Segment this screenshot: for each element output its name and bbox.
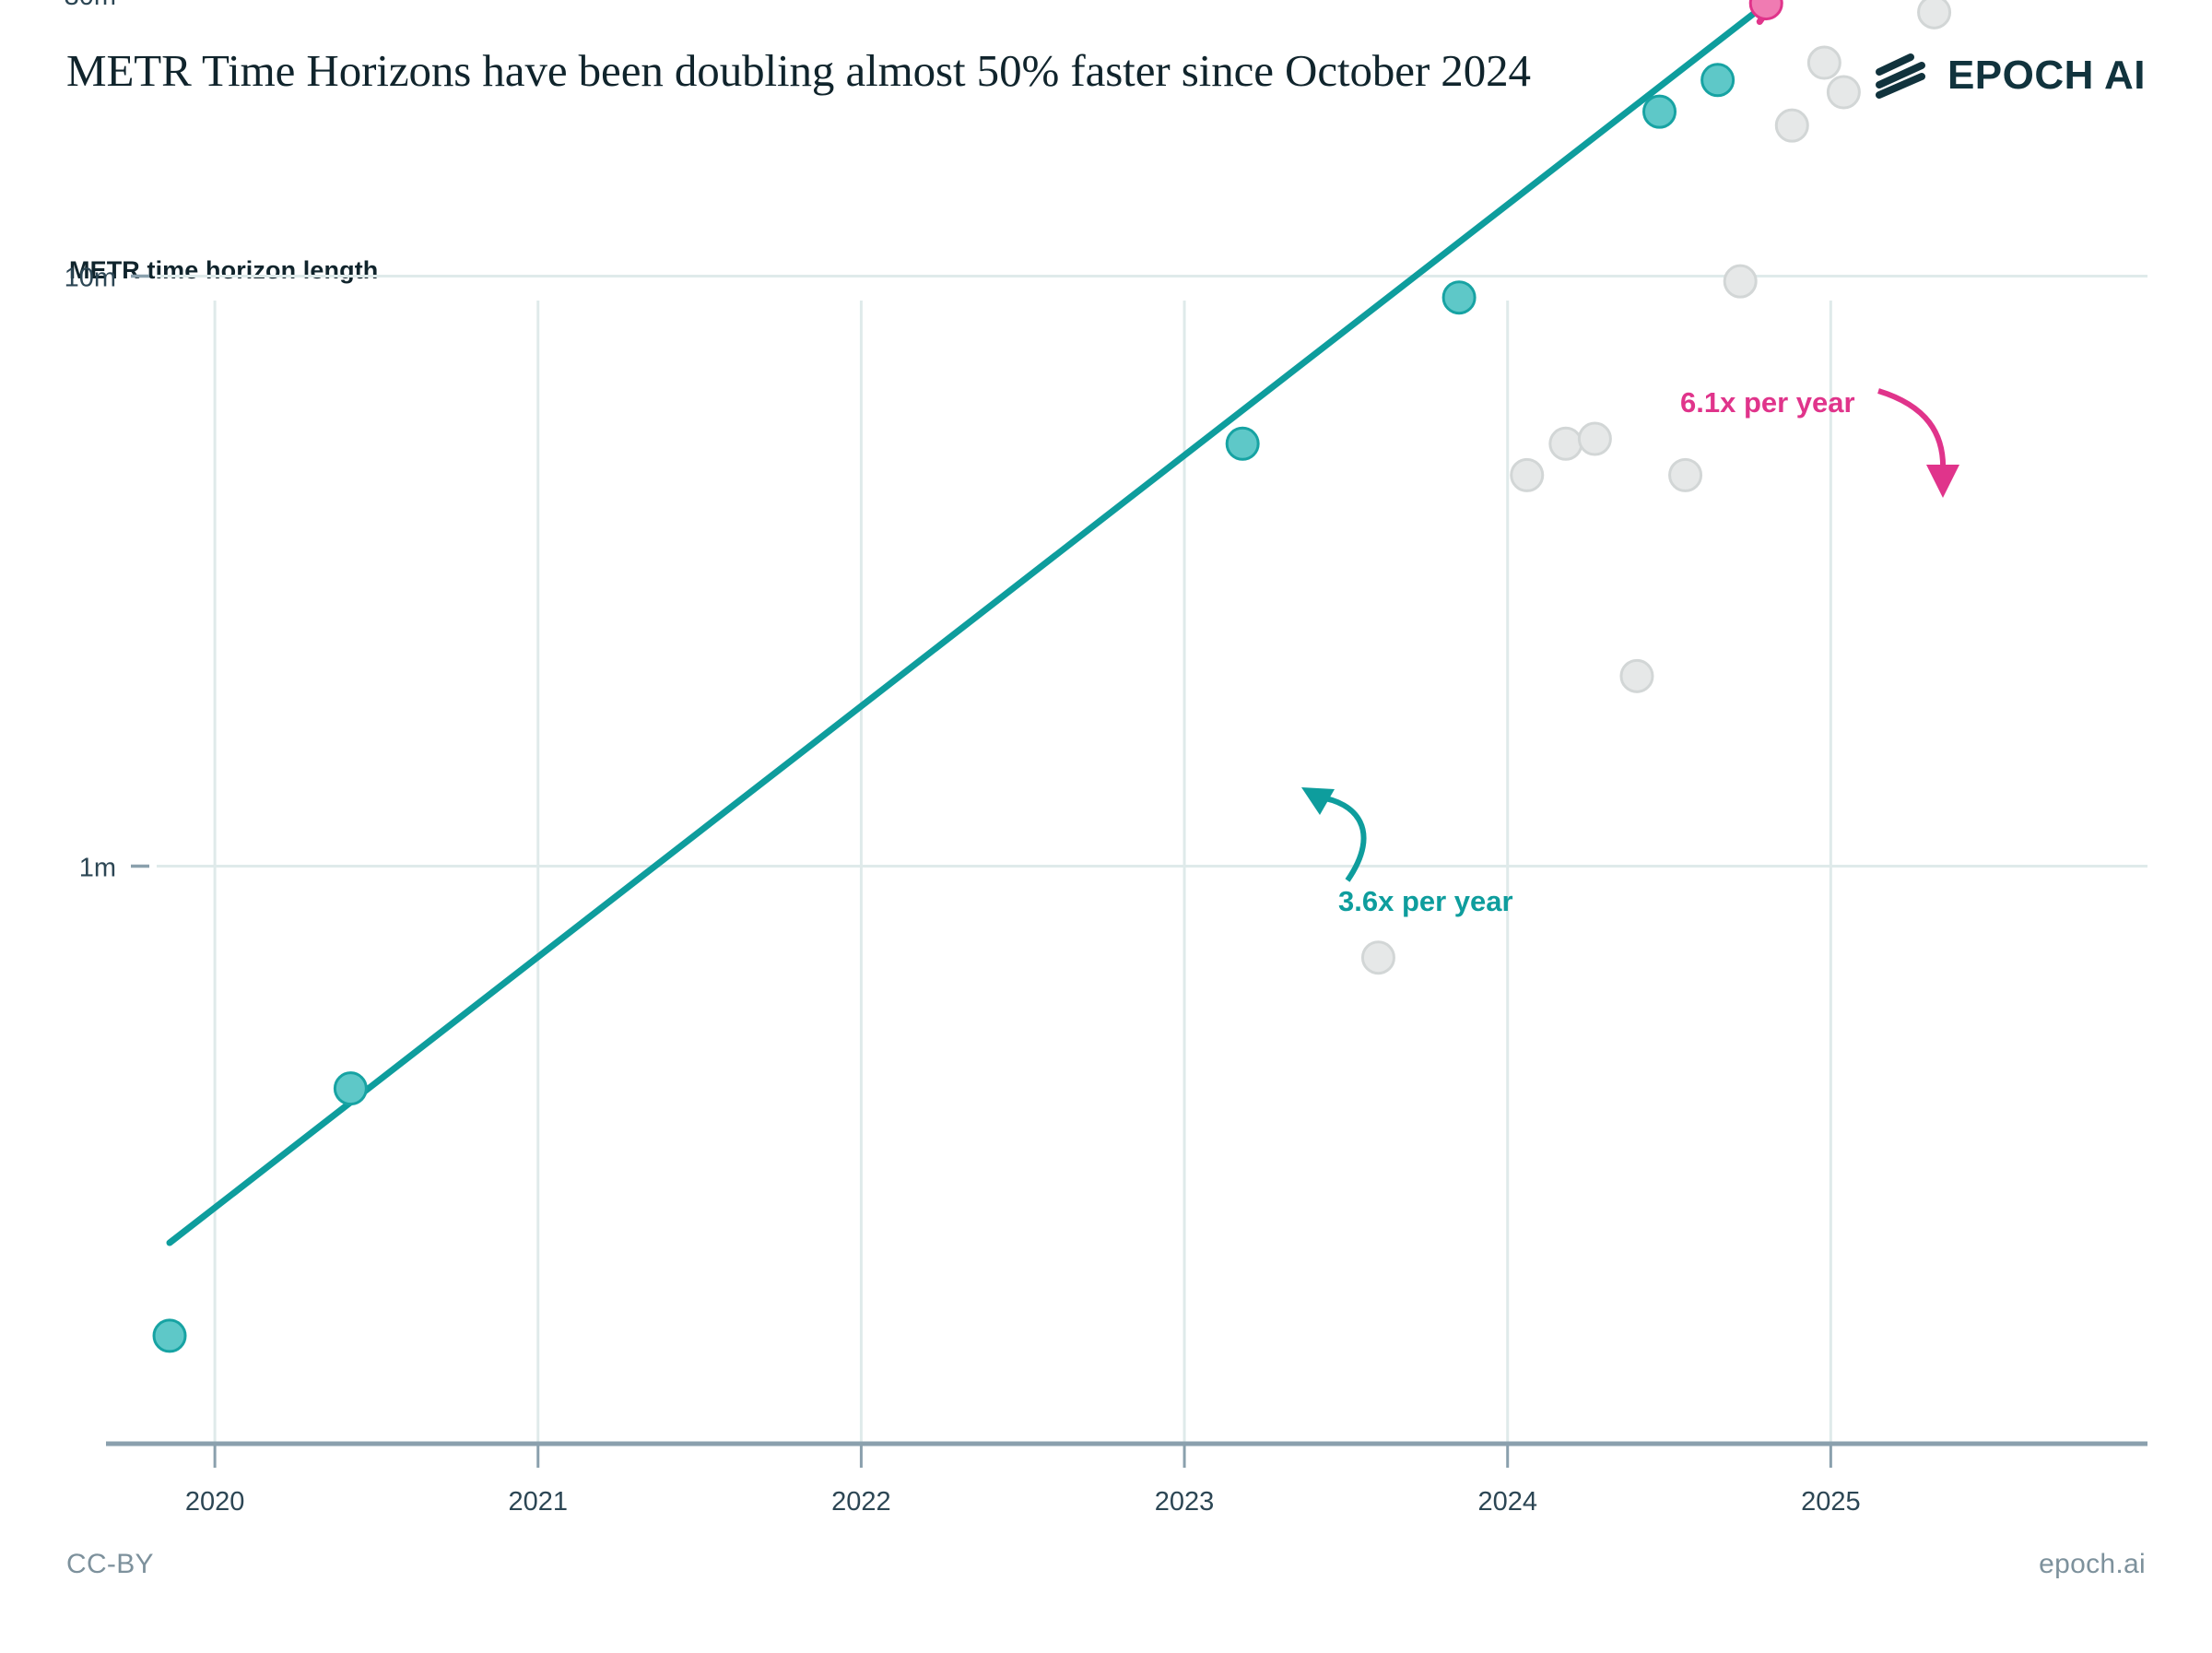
y-axis-tick-labels: 4h2h1h30m10m1m xyxy=(65,0,116,883)
data-point xyxy=(1644,96,1676,127)
x-tick-label: 2022 xyxy=(831,1487,891,1517)
data-point xyxy=(1227,428,1258,459)
data-point xyxy=(1750,0,1782,19)
x-axis-tick-labels: 202020212022202320242025 xyxy=(185,1487,1861,1517)
trend-line xyxy=(170,0,1772,1243)
y-tick-label: 10m xyxy=(65,264,116,293)
annotation-arrows xyxy=(1301,391,1959,880)
x-tick-label: 2024 xyxy=(1477,1487,1537,1517)
x-tick-label: 2021 xyxy=(509,1487,569,1517)
data-point xyxy=(1919,0,1950,28)
teal-annotation-label: 3.6x per year xyxy=(1338,885,1513,917)
chart-page: METR Time Horizons have been doubling al… xyxy=(0,0,2212,1653)
pink-annotation-arrow xyxy=(1878,391,1943,472)
data-point xyxy=(1362,942,1394,974)
x-tick-label: 2025 xyxy=(1801,1487,1861,1517)
data-point xyxy=(1443,282,1475,313)
data-point xyxy=(1550,428,1582,459)
teal-annotation-arrow xyxy=(1320,797,1364,880)
x-tick-label: 2020 xyxy=(185,1487,245,1517)
pink-arrowhead xyxy=(1926,465,1959,498)
data-point xyxy=(335,1073,366,1104)
y-tick-label: 30m xyxy=(65,0,116,11)
data-point xyxy=(1512,459,1543,490)
pink-annotation-label: 6.1x per year xyxy=(1680,386,1855,419)
data-point xyxy=(1579,423,1610,455)
data-points xyxy=(154,0,2144,1352)
data-point xyxy=(154,1320,185,1352)
data-point xyxy=(1776,110,1807,141)
data-point xyxy=(1670,459,1701,490)
data-point xyxy=(1828,77,1859,108)
annotation-labels: 3.6x per year6.1x per year xyxy=(1338,386,1855,917)
footer: CC-BY epoch.ai xyxy=(66,1549,2146,1595)
trend-lines xyxy=(170,0,2144,1243)
data-point xyxy=(1702,65,1734,96)
y-tick-label: 1m xyxy=(79,854,116,883)
grid-lines xyxy=(131,0,2147,1468)
site-label: epoch.ai xyxy=(2039,1549,2146,1580)
data-point xyxy=(1808,47,1840,78)
chart-area: 4h2h1h30m10m1m 202020212022202320242025 … xyxy=(0,0,2212,1653)
x-tick-label: 2023 xyxy=(1155,1487,1215,1517)
data-point xyxy=(1621,660,1653,691)
data-point xyxy=(1724,266,1756,297)
license-label: CC-BY xyxy=(66,1549,154,1580)
